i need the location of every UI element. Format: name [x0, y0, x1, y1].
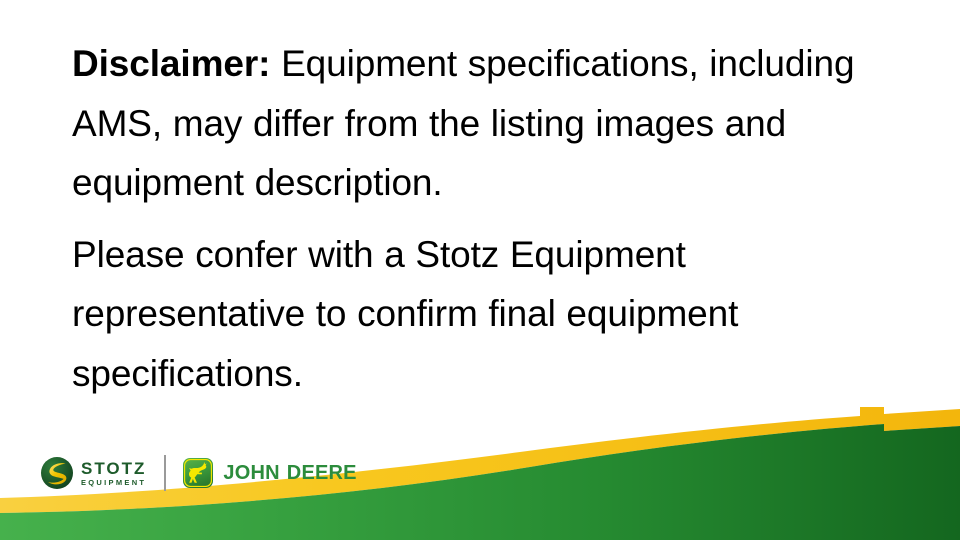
slide-canvas: Disclaimer: Equipment specifications, in…	[0, 0, 960, 540]
stotz-s-swoosh-icon	[40, 456, 74, 490]
disclaimer-text-block: Disclaimer: Equipment specifications, in…	[72, 34, 900, 403]
logo-divider	[164, 455, 166, 491]
paragraph-confer: Please confer with a Stotz Equipment rep…	[72, 225, 900, 404]
stotz-subtitle: EQUIPMENT	[81, 479, 146, 487]
john-deere-wordmark: JOHNDEERE	[223, 462, 356, 485]
stotz-wordmark: STOTZ EQUIPMENT	[81, 460, 146, 487]
john-deere-leaping-deer-icon	[182, 457, 214, 489]
stotz-equipment-logo: STOTZ EQUIPMENT	[40, 456, 146, 490]
brand-logo-lockup: STOTZ EQUIPMENT JOHNDEERE	[40, 451, 357, 495]
stotz-name: STOTZ	[81, 460, 146, 477]
confer-body: Please confer with a Stotz Equipment rep…	[72, 234, 738, 394]
jd-word-john: JOHN	[223, 462, 279, 484]
jd-word-deere: DEERE	[287, 462, 357, 484]
john-deere-logo: JOHNDEERE	[182, 457, 356, 489]
disclaimer-label: Disclaimer:	[72, 43, 270, 84]
paragraph-disclaimer: Disclaimer: Equipment specifications, in…	[72, 34, 900, 213]
